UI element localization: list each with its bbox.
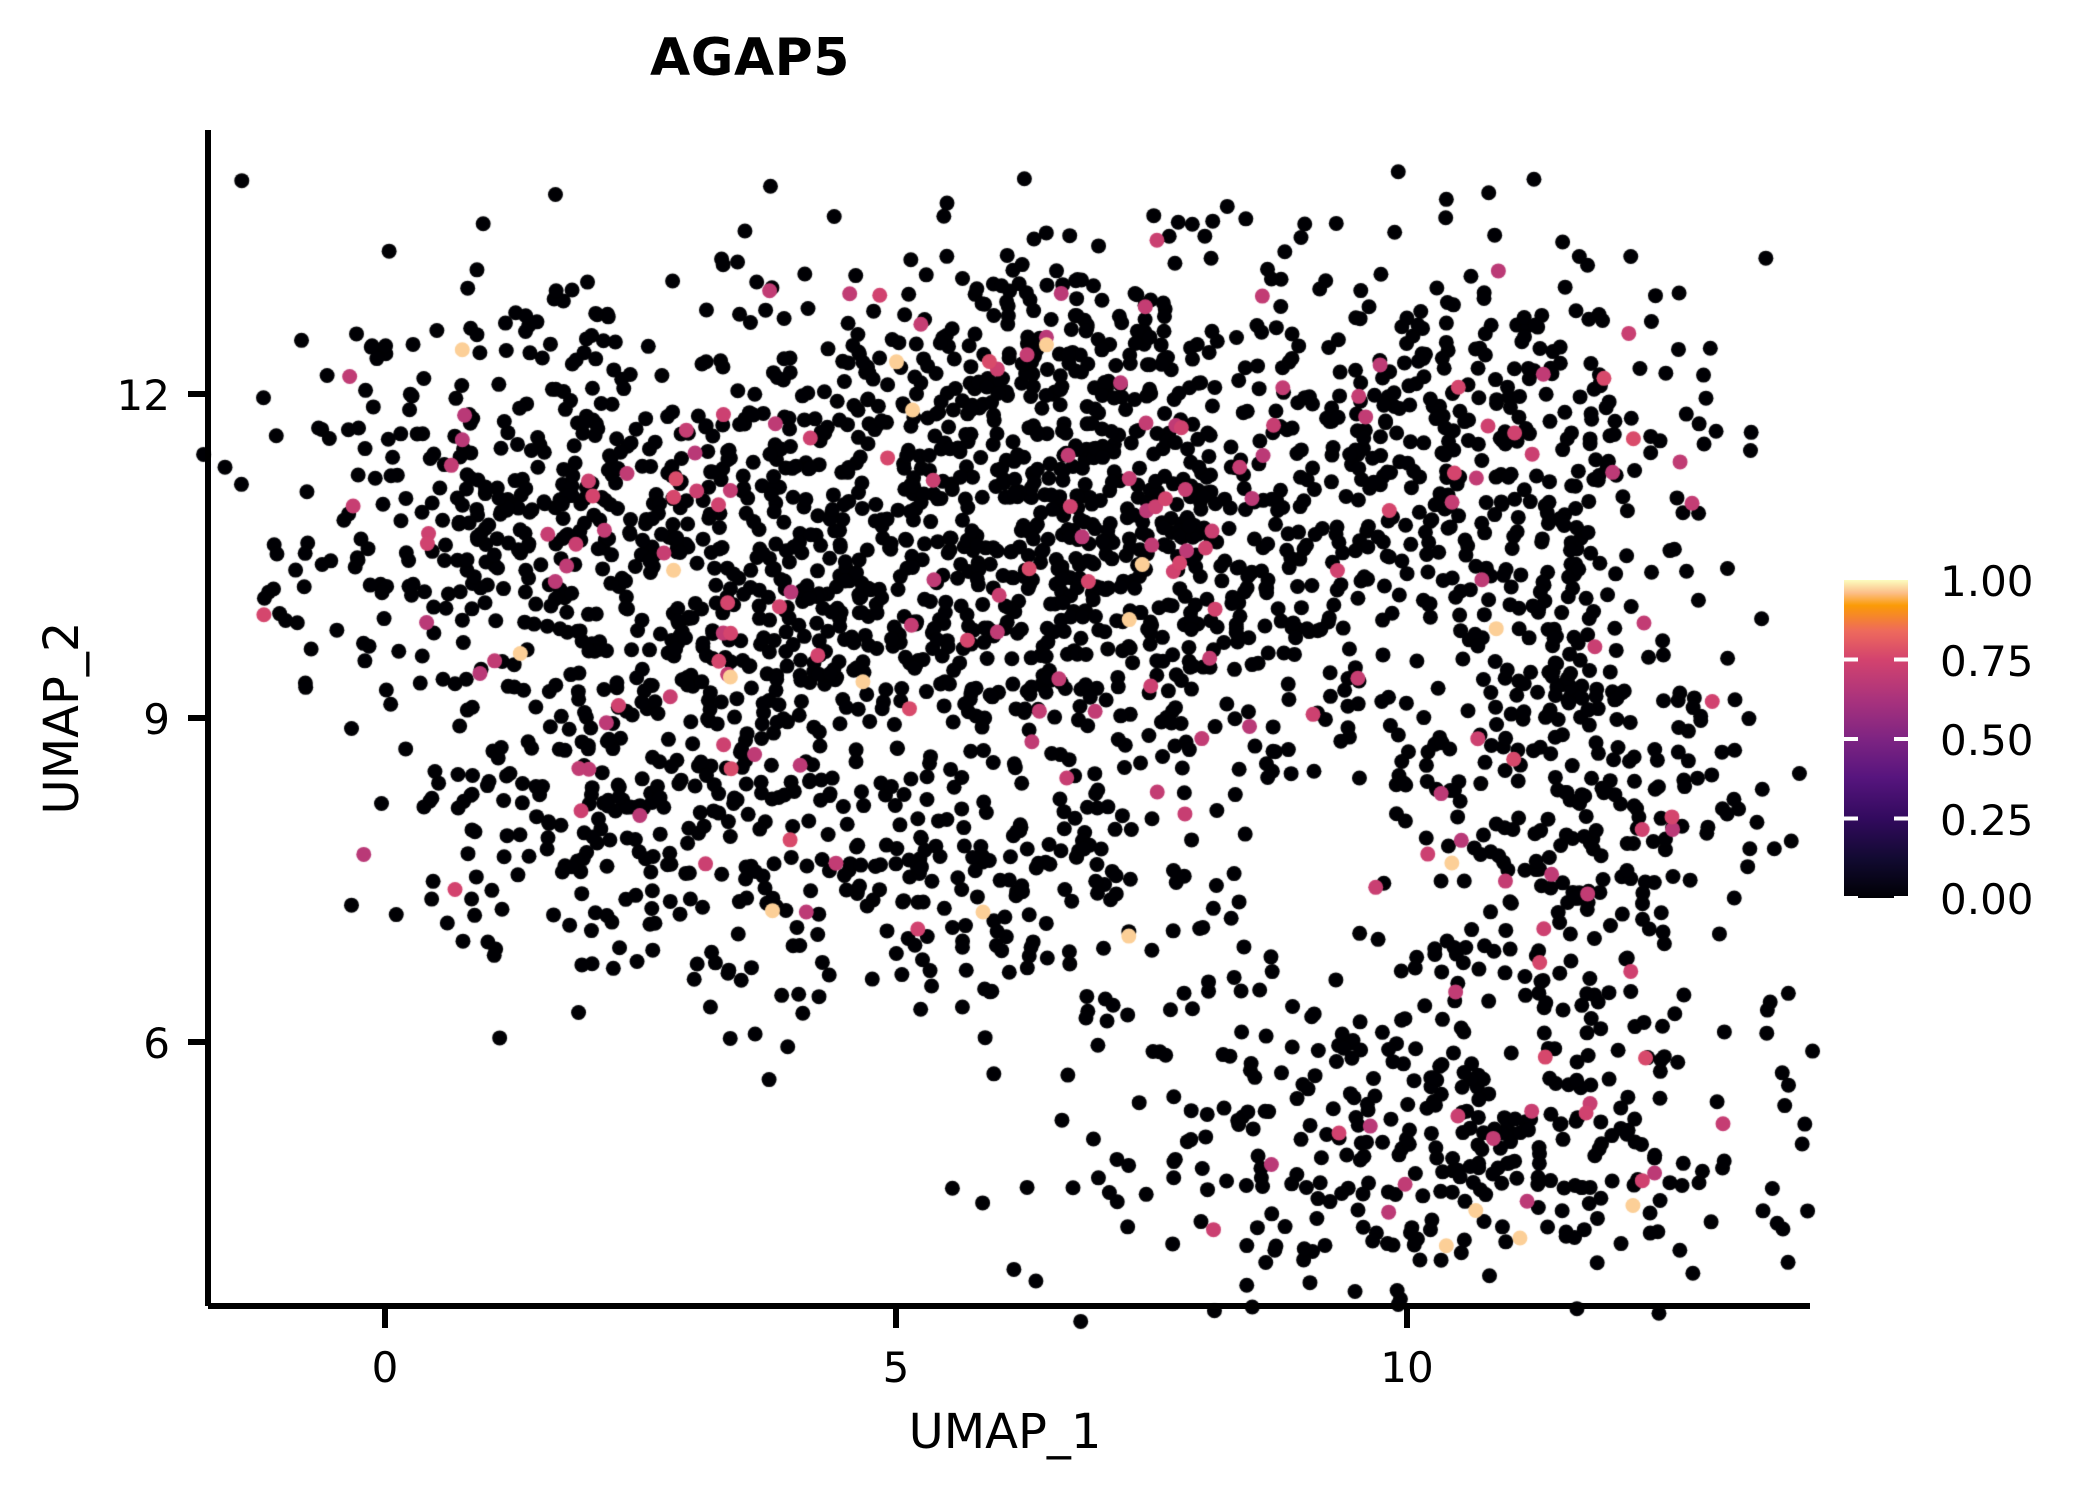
scatter-plot-canvas[interactable] [0, 0, 2100, 1500]
umap-feature-plot-figure: AGAP5 12 9 6 0 5 10 UMAP_1 UMAP_2 1.00 0… [0, 0, 2100, 1500]
